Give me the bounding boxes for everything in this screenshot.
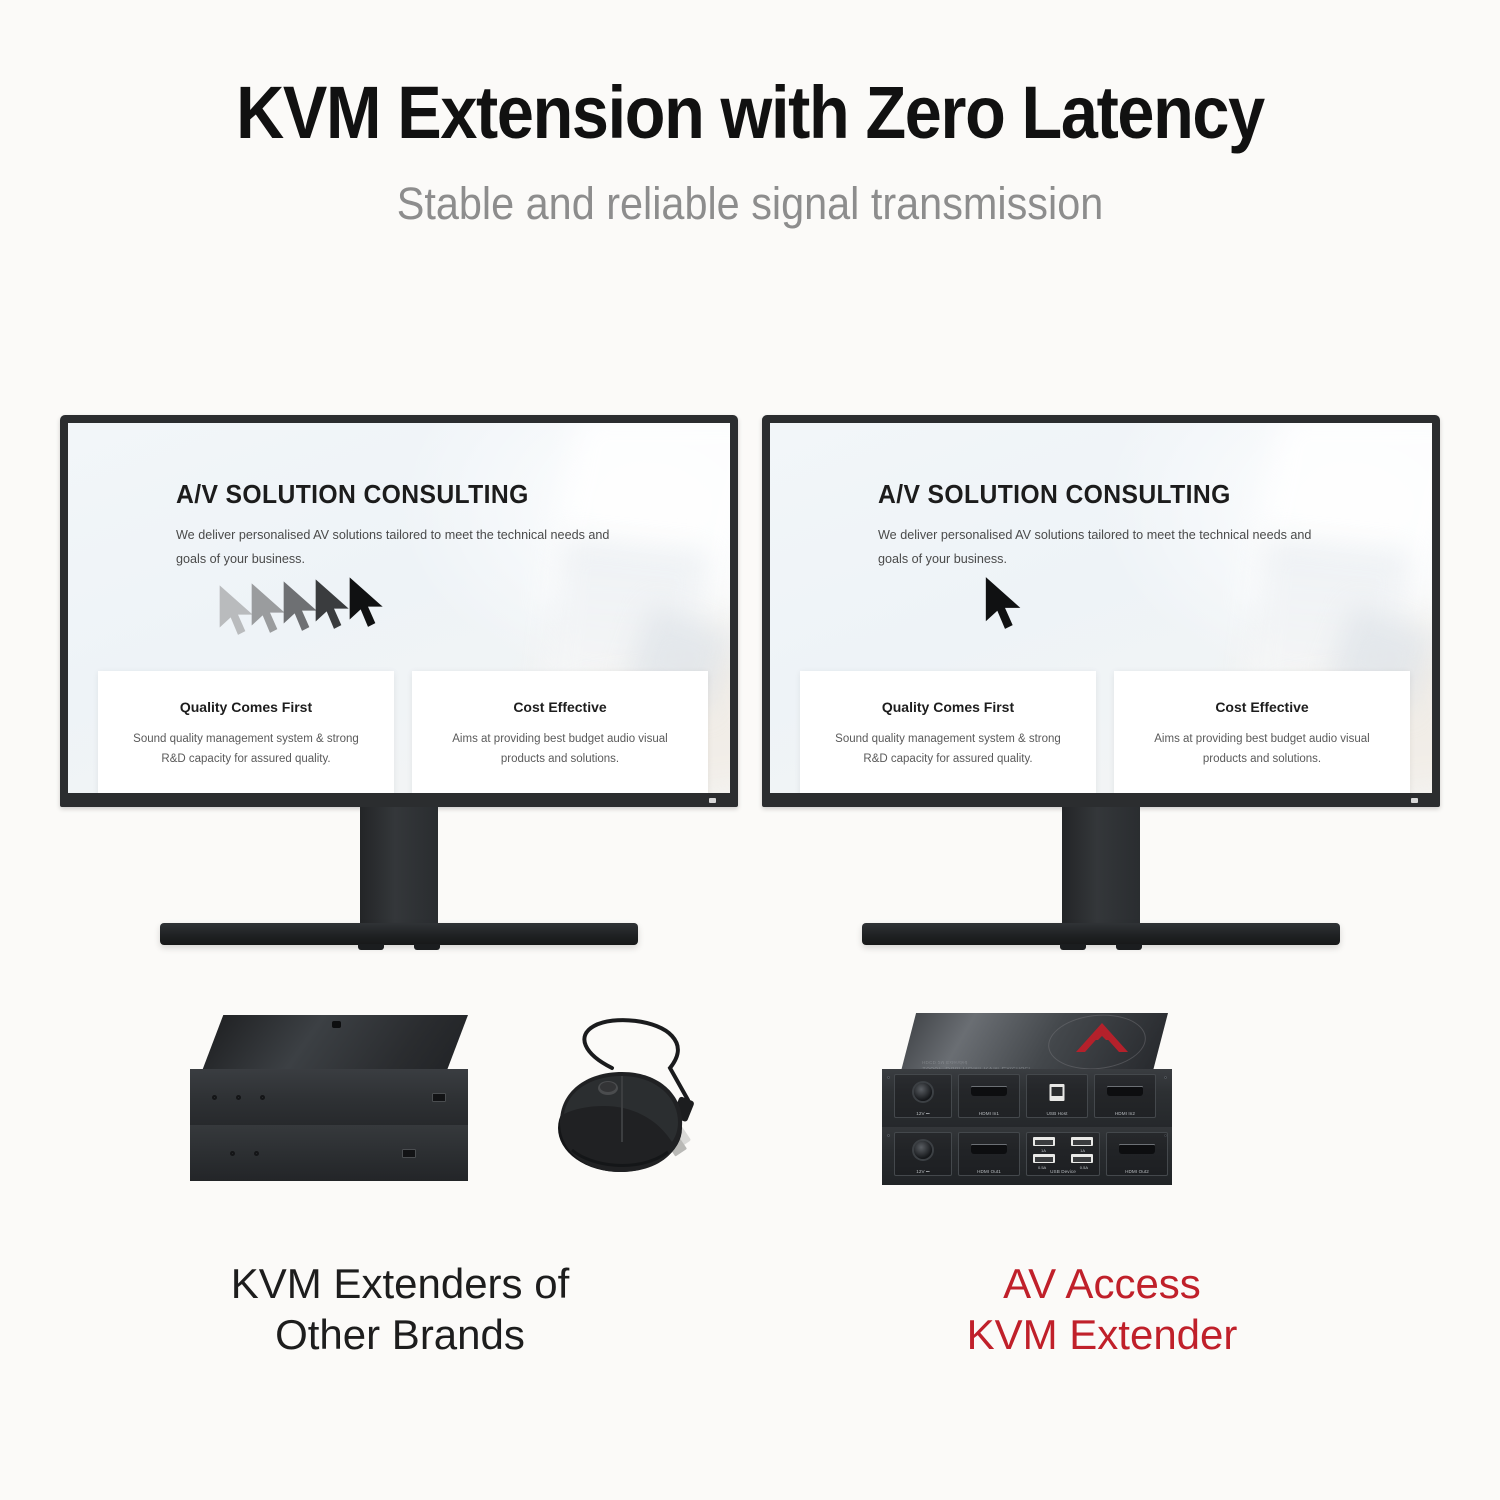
port-label: 12V ⎓ (895, 1111, 951, 1116)
card-cost: Cost Effective Aims at providing best bu… (412, 671, 708, 793)
monitor-left-stand-base (160, 923, 638, 945)
port-label: HDMI Out2 (1107, 1169, 1167, 1174)
power-jack-icon (914, 1083, 932, 1101)
monitor-left: A/V SOLUTION CONSULTING We deliver perso… (60, 415, 738, 950)
status-led (260, 1095, 265, 1100)
status-led (254, 1151, 259, 1156)
page-subtitle: Stable and reliable signal transmission (60, 178, 1440, 230)
card-text: Sound quality management system & strong… (128, 729, 365, 769)
port-usb-device-group[interactable]: 1A 1A 0.5A 0.5A USB Device (1026, 1132, 1100, 1176)
hdmi-port-icon (1119, 1144, 1155, 1154)
monitor-right-screen: A/V SOLUTION CONSULTING We deliver perso… (770, 423, 1432, 793)
port-hdmi-out1[interactable]: HDMI Out1 (958, 1132, 1020, 1176)
device-row-left (60, 1005, 740, 1205)
card-title: Cost Effective (1215, 699, 1308, 715)
usb-a-port-icon (1071, 1137, 1093, 1146)
port-hdmi-out2[interactable]: HDMI Out2 (1106, 1132, 1168, 1176)
monitor-left-frame: A/V SOLUTION CONSULTING We deliver perso… (60, 415, 738, 807)
generic-box-lower-unit (190, 1125, 468, 1181)
monitor-left-screen: A/V SOLUTION CONSULTING We deliver perso… (68, 423, 730, 793)
hdmi-port-icon (971, 1144, 1007, 1154)
card-text: Aims at providing best budget audio visu… (1144, 729, 1381, 769)
monitor-right-stand-base (862, 923, 1340, 945)
generic-box-led-group (212, 1095, 265, 1100)
caption-line-1: KVM Extenders of (60, 1258, 740, 1309)
card-quality: Quality Comes First Sound quality manage… (800, 671, 1096, 793)
port-label: USB Device (1027, 1169, 1099, 1174)
port-hdmi-in2[interactable]: HDMI In2 (1094, 1074, 1156, 1118)
caption-line-1: AV Access (762, 1258, 1442, 1309)
usb-a-port-icon (1033, 1154, 1055, 1163)
card-cost: Cost Effective Aims at providing best bu… (1114, 671, 1410, 793)
usb-current-label: 1A (1041, 1148, 1046, 1153)
card-title: Quality Comes First (180, 699, 312, 715)
caption-line-2: Other Brands (60, 1309, 740, 1360)
av-access-kvm-extender: 1080P Dual HDMI KVM Extender HDCD 2M Ext… (882, 1013, 1182, 1188)
port-power-in[interactable]: 12V ⎓ (894, 1074, 952, 1118)
usb-a-port-icon (1071, 1154, 1093, 1163)
av-receiver-face: 12V ⎓ HDMI Out1 1A 1A 0.5A 0.5A USB Devi… (882, 1127, 1172, 1185)
caption-other-brands: KVM Extenders of Other Brands (60, 1258, 740, 1360)
generic-kvm-extender (190, 1015, 480, 1180)
chassis-screw (887, 1134, 890, 1137)
device-row-right: 1080P Dual HDMI KVM Extender HDCD 2M Ext… (762, 1005, 1442, 1205)
chassis-screw (1164, 1076, 1167, 1079)
product-comparison-graphic: KVM Extension with Zero Latency Stable a… (0, 0, 1500, 1500)
monitor-right: A/V SOLUTION CONSULTING We deliver perso… (762, 415, 1440, 950)
cursor-pointer-left (346, 575, 390, 631)
generic-box-port (402, 1149, 416, 1158)
usb-a-port-icon (1033, 1137, 1055, 1146)
monitor-left-stand-neck (360, 807, 438, 925)
status-led (230, 1151, 235, 1156)
card-text: Aims at providing best budget audio visu… (442, 729, 679, 769)
status-led (212, 1095, 217, 1100)
port-power-in[interactable]: 12V ⎓ (894, 1132, 952, 1176)
caption-av-access: AV Access KVM Extender (762, 1258, 1442, 1360)
hdmi-port-icon (1107, 1086, 1143, 1096)
port-hdmi-in1[interactable]: HDMI In1 (958, 1074, 1020, 1118)
monitor-right-stand-neck (1062, 807, 1140, 925)
av-access-chevron-logo (1072, 1021, 1132, 1055)
port-label: HDMI Out1 (959, 1169, 1019, 1174)
status-led (236, 1095, 241, 1100)
port-usb-host[interactable]: USB Host (1026, 1074, 1088, 1118)
power-jack-icon (914, 1141, 932, 1159)
card-text: Sound quality management system & strong… (830, 729, 1067, 769)
slide-cards-right: Quality Comes First Sound quality manage… (800, 671, 1410, 793)
page-title: KVM Extension with Zero Latency (75, 70, 1425, 155)
card-quality: Quality Comes First Sound quality manage… (98, 671, 394, 793)
card-title: Cost Effective (513, 699, 606, 715)
port-label: USB Host (1027, 1111, 1087, 1116)
slide-title-right: A/V SOLUTION CONSULTING (878, 479, 1231, 510)
generic-box-led-group (230, 1151, 259, 1156)
port-label: 12V ⎓ (895, 1169, 951, 1174)
generic-box-top-led (332, 1021, 341, 1028)
generic-box-upper-unit (190, 1069, 468, 1125)
generic-box-port (432, 1093, 446, 1102)
chassis-screw (887, 1076, 890, 1079)
monitor-right-frame: A/V SOLUTION CONSULTING We deliver perso… (762, 415, 1440, 807)
card-title: Quality Comes First (882, 699, 1014, 715)
usb-b-port-icon (1050, 1084, 1065, 1101)
hdmi-port-icon (971, 1086, 1007, 1096)
slide-body-right: We deliver personalised AV solutions tai… (878, 523, 1319, 571)
usb-current-label: 1A (1080, 1148, 1085, 1153)
slide-cards-left: Quality Comes First Sound quality manage… (98, 671, 708, 793)
slide-body-left: We deliver personalised AV solutions tai… (176, 523, 617, 571)
slide-title-left: A/V SOLUTION CONSULTING (176, 479, 529, 510)
av-device-top-face: 1080P Dual HDMI KVM Extender HDCD 2M Ext… (900, 1013, 1168, 1075)
caption-line-2: KVM Extender (762, 1309, 1442, 1360)
av-transmitter-face: 12V ⎓ HDMI In1 USB Host HDMI In2 (882, 1069, 1172, 1127)
port-label: HDMI In1 (959, 1111, 1019, 1116)
cursor-pointer-right (982, 575, 1028, 633)
port-label: HDMI In2 (1095, 1111, 1155, 1116)
mouse-left (542, 1010, 742, 1195)
